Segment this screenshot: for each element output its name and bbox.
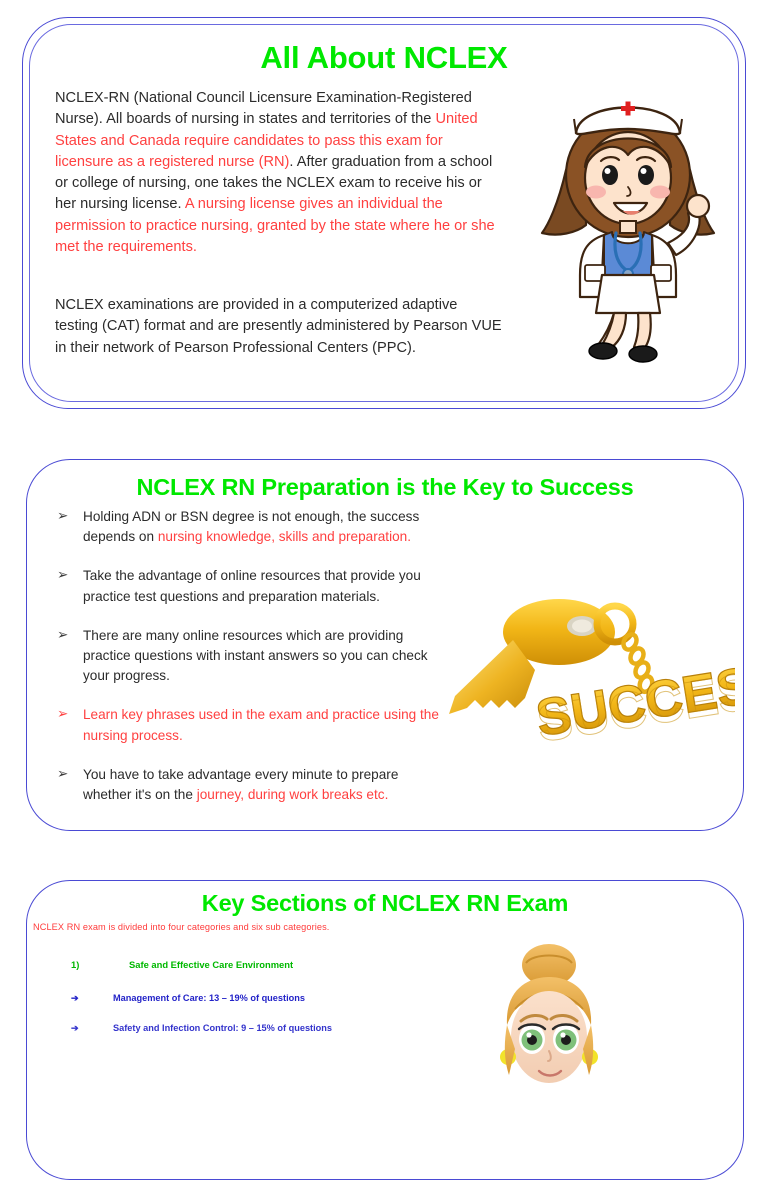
list-item-text: Take the advantage of online resources t… [83, 568, 421, 603]
page-title: All About NCLEX [23, 40, 745, 76]
gold-key-success-icon: SUCCESS SUCCESS [439, 588, 735, 768]
paragraph-run: NCLEX examinations are provided in a com… [55, 297, 502, 356]
sub-category-label: Management of Care: 13 – 19% of question… [113, 993, 305, 1003]
cat-format-paragraph: NCLEX examinations are provided in a com… [55, 295, 503, 359]
list-item: ➢ Learn key phrases used in the exam and… [39, 705, 449, 745]
section-title-preparation: NCLEX RN Preparation is the Key to Succe… [27, 474, 743, 501]
arrow-bullet-icon: ➢ [57, 565, 68, 585]
category-number: 1) [71, 959, 129, 970]
panel-all-about-nclex: All About NCLEX NCLEX-RN (National Counc… [22, 17, 746, 409]
list-item: ➢ Holding ADN or BSN degree is not enoug… [39, 507, 449, 547]
list-item: ➢ You have to take advantage every minut… [39, 765, 449, 805]
list-item-text-red: journey, during work breaks etc. [197, 787, 389, 802]
arrow-bullet-icon: ➢ [57, 506, 68, 526]
panel-key-sections: Key Sections of NCLEX RN Exam NCLEX RN e… [26, 880, 744, 1180]
blonde-girl-avatar-icon [479, 939, 619, 1139]
section-title-key-sections: Key Sections of NCLEX RN Exam [27, 890, 743, 917]
sub-category-item: ➔Safety and Infection Control: 9 – 15% o… [71, 1023, 332, 1034]
list-item-text-red: nursing knowledge, skills and preparatio… [158, 529, 411, 544]
preparation-bullet-list: ➢ Holding ADN or BSN degree is not enoug… [39, 507, 449, 824]
nurse-illustration-icon [528, 75, 728, 365]
sub-category-item: ➔Management of Care: 13 – 19% of questio… [71, 993, 305, 1004]
list-item-text: There are many online resources which ar… [83, 628, 428, 683]
category-label: Safe and Effective Care Environment [129, 959, 293, 970]
arrow-right-icon: ➔ [71, 1023, 113, 1034]
arrow-right-icon: ➔ [71, 993, 113, 1004]
paragraph-run: NCLEX-RN (National Council Licensure Exa… [55, 90, 472, 127]
panel-nclex-preparation: NCLEX RN Preparation is the Key to Succe… [26, 459, 744, 831]
arrow-bullet-icon: ➢ [57, 704, 68, 724]
category-item: 1)Safe and Effective Care Environment [71, 959, 293, 970]
sub-category-label: Safety and Infection Control: 9 – 15% of… [113, 1023, 332, 1033]
list-item: ➢ There are many online resources which … [39, 626, 449, 687]
list-item: ➢ Take the advantage of online resources… [39, 566, 449, 606]
list-item-text-red: Learn key phrases used in the exam and p… [83, 707, 439, 742]
arrow-bullet-icon: ➢ [57, 764, 68, 784]
arrow-bullet-icon: ➢ [57, 625, 68, 645]
key-sections-intro: NCLEX RN exam is divided into four categ… [33, 922, 329, 932]
intro-paragraph: NCLEX-RN (National Council Licensure Exa… [55, 88, 503, 258]
